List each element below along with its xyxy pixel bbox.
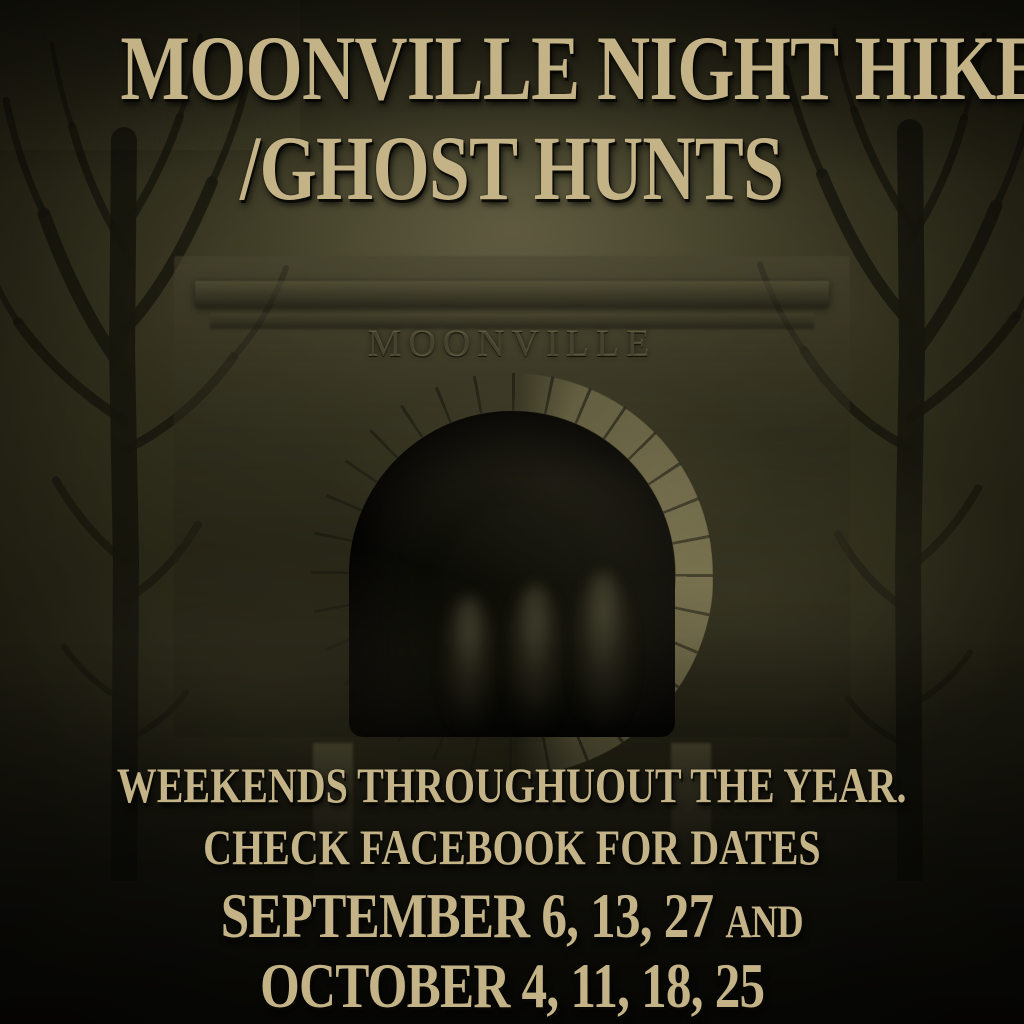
september-conjunction-text: AND	[726, 896, 803, 947]
title-line-1-text: MOONVILLE NIGHT HIKES	[120, 22, 1024, 114]
info-line-1: WEEKENDS THROUGHUOUT THE YEAR.	[0, 760, 1024, 810]
title-line-2-text: /GHOST HUNTS	[240, 122, 783, 214]
poster-text-layer: MOONVILLE NIGHT HIKES /GHOST HUNTS WEEKE…	[0, 0, 1024, 1024]
october-dates-text: OCTOBER 4, 11, 18, 25	[260, 954, 764, 1018]
info-line-2-text: CHECK FACEBOOK FOR DATES	[203, 822, 820, 872]
title-line-1: MOONVILLE NIGHT HIKES	[0, 22, 1024, 114]
poster-root: MOONVILLE MOONVILLE NIGHT HIKES /GHOST H…	[0, 0, 1024, 1024]
title-line-2: /GHOST HUNTS	[0, 122, 1024, 214]
date-line-september: SEPTEMBER 6, 13, 27 AND	[0, 884, 1024, 948]
september-dates-text: SEPTEMBER 6, 13, 27	[221, 880, 714, 951]
info-line-2: CHECK FACEBOOK FOR DATES	[0, 822, 1024, 872]
info-line-1-text: WEEKENDS THROUGHUOUT THE YEAR.	[117, 760, 907, 810]
date-line-october: OCTOBER 4, 11, 18, 25	[0, 954, 1024, 1018]
